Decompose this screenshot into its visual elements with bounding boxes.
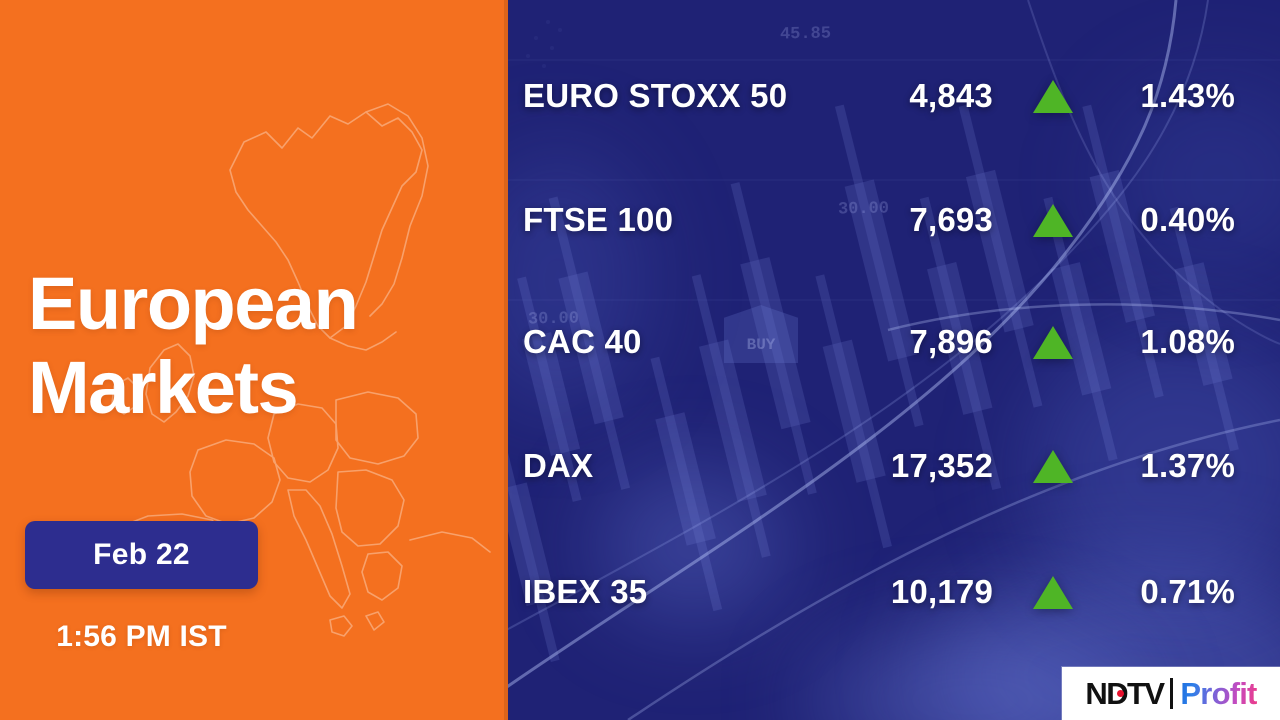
left-orange-panel: European Markets Feb 22 1:56 PM IST bbox=[0, 0, 508, 720]
arrow-up-icon bbox=[1033, 326, 1073, 359]
index-level: 17,352 bbox=[818, 447, 993, 485]
index-level: 7,896 bbox=[818, 323, 993, 361]
index-name: EURO STOXX 50 bbox=[523, 77, 787, 115]
timestamp-label: 1:56 PM IST bbox=[25, 620, 258, 654]
change-percent: 1.08% bbox=[1098, 323, 1235, 361]
market-summary-card: European Markets Feb 22 1:56 PM IST bbox=[0, 0, 1280, 720]
index-name: DAX bbox=[523, 447, 593, 485]
change-percent: 0.71% bbox=[1098, 573, 1235, 611]
index-name: FTSE 100 bbox=[523, 201, 673, 239]
index-name: IBEX 35 bbox=[523, 573, 647, 611]
change-percent: 1.43% bbox=[1098, 77, 1235, 115]
arrow-up-icon bbox=[1033, 80, 1073, 113]
index-level: 4,843 bbox=[818, 77, 993, 115]
direction-cell bbox=[1013, 576, 1093, 609]
index-level: 7,693 bbox=[818, 201, 993, 239]
right-blue-panel: 45.85 30.00 30.00 BUY EURO STOXX 50 4,84… bbox=[508, 0, 1280, 720]
logo-red-dot-icon bbox=[1117, 690, 1124, 697]
table-row: DAX 17,352 1.37% bbox=[508, 434, 1280, 498]
arrow-up-icon bbox=[1033, 204, 1073, 237]
logo-brand-text: NDTV bbox=[1085, 676, 1163, 712]
change-percent: 1.37% bbox=[1098, 447, 1235, 485]
arrow-up-icon bbox=[1033, 576, 1073, 609]
direction-cell bbox=[1013, 80, 1093, 113]
arrow-up-icon bbox=[1033, 450, 1073, 483]
ndtv-profit-logo: NDTV Profit bbox=[1062, 667, 1280, 720]
table-row: CAC 40 7,896 1.08% bbox=[508, 310, 1280, 374]
direction-cell bbox=[1013, 450, 1093, 483]
date-badge-label: Feb 22 bbox=[93, 538, 190, 572]
table-row: EURO STOXX 50 4,843 1.43% bbox=[508, 64, 1280, 128]
direction-cell bbox=[1013, 204, 1093, 237]
logo-product-label: Profit bbox=[1180, 676, 1256, 712]
title-line-1: European bbox=[28, 262, 357, 346]
title-line-2: Markets bbox=[28, 346, 357, 430]
page-title: European Markets bbox=[28, 262, 357, 430]
table-row: IBEX 35 10,179 0.71% bbox=[508, 560, 1280, 624]
date-badge: Feb 22 bbox=[25, 521, 258, 589]
quote-table: EURO STOXX 50 4,843 1.43% FTSE 100 7,693… bbox=[508, 0, 1280, 720]
index-level: 10,179 bbox=[818, 573, 993, 611]
table-row: FTSE 100 7,693 0.40% bbox=[508, 188, 1280, 252]
logo-brand-label: NDTV bbox=[1085, 676, 1163, 711]
logo-separator-icon bbox=[1170, 678, 1173, 709]
index-name: CAC 40 bbox=[523, 323, 642, 361]
change-percent: 0.40% bbox=[1098, 201, 1235, 239]
direction-cell bbox=[1013, 326, 1093, 359]
